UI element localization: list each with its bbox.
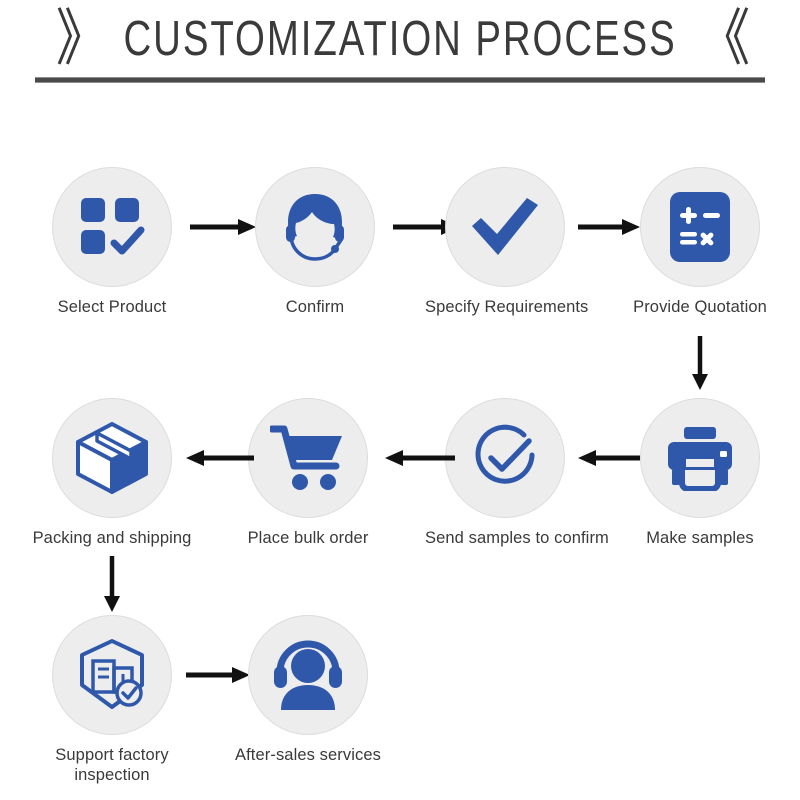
step-node-packing-and-shipping[interactable]: Packing and shipping	[32, 398, 192, 548]
shopping-cart-icon	[270, 424, 346, 492]
step-icon-circle	[445, 167, 565, 287]
step-icon-circle	[445, 398, 565, 518]
step-icon-circle	[640, 398, 760, 518]
circle-check-outline-icon	[466, 419, 544, 497]
step-node-after-sales-services[interactable]: After-sales services	[228, 615, 388, 765]
factory-inspection-shield-icon	[74, 637, 150, 713]
double-chevron-left-icon: 《	[698, 8, 744, 69]
arrow-step4-to-step5	[690, 336, 710, 390]
step-icon-circle	[52, 167, 172, 287]
calculator-icon	[669, 191, 731, 263]
step-label: After-sales services	[228, 745, 388, 765]
step-label: Place bulk order	[228, 528, 388, 548]
title-divider	[35, 77, 765, 83]
headset-person-icon	[270, 640, 346, 710]
step-label: Select Product	[32, 297, 192, 317]
step-node-provide-quotation[interactable]: Provide Quotation	[620, 167, 780, 317]
step-label: Provide Quotation	[620, 297, 780, 317]
double-chevron-right-icon: 》	[56, 8, 102, 69]
grid-check-icon	[79, 196, 145, 258]
step-icon-circle	[248, 615, 368, 735]
printer-icon	[664, 425, 736, 491]
step-label: Send samples to confirm	[425, 528, 585, 548]
step-node-send-samples-to-confirm[interactable]: Send samples to confirm	[425, 398, 585, 548]
step-label: Packing and shipping	[32, 528, 192, 548]
page-header: 》 CUSTOMIZATION PROCESS 《	[0, 0, 800, 95]
step-node-make-samples[interactable]: Make samples	[620, 398, 780, 548]
step-node-select-product[interactable]: Select Product	[32, 167, 192, 317]
step-label: Support factory inspection	[37, 745, 187, 785]
arrow-step5-to-step6	[578, 449, 640, 467]
step-icon-circle	[52, 398, 172, 518]
page-title-text: CUSTOMIZATION PROCESS	[123, 12, 676, 67]
step-icon-circle	[640, 167, 760, 287]
step-icon-circle	[255, 167, 375, 287]
arrow-step7-to-step8	[186, 449, 254, 467]
step-label: Specify Requirements	[425, 297, 585, 317]
step-label: Confirm	[235, 297, 395, 317]
step-icon-circle	[248, 398, 368, 518]
package-box-icon	[73, 422, 151, 494]
checkmark-icon	[469, 196, 541, 258]
step-node-specify-requirements[interactable]: Specify Requirements	[425, 167, 585, 317]
arrow-step8-to-step9	[102, 556, 122, 612]
step-label: Make samples	[620, 528, 780, 548]
step-node-place-bulk-order[interactable]: Place bulk order	[228, 398, 388, 548]
step-node-support-factory-inspection[interactable]: Support factory inspection	[32, 615, 192, 785]
support-agent-headset-icon	[277, 189, 353, 265]
page-title: 》 CUSTOMIZATION PROCESS 《	[0, 8, 800, 70]
step-node-confirm[interactable]: Confirm	[235, 167, 395, 317]
step-icon-circle	[52, 615, 172, 735]
arrow-step6-to-step7	[385, 449, 455, 467]
